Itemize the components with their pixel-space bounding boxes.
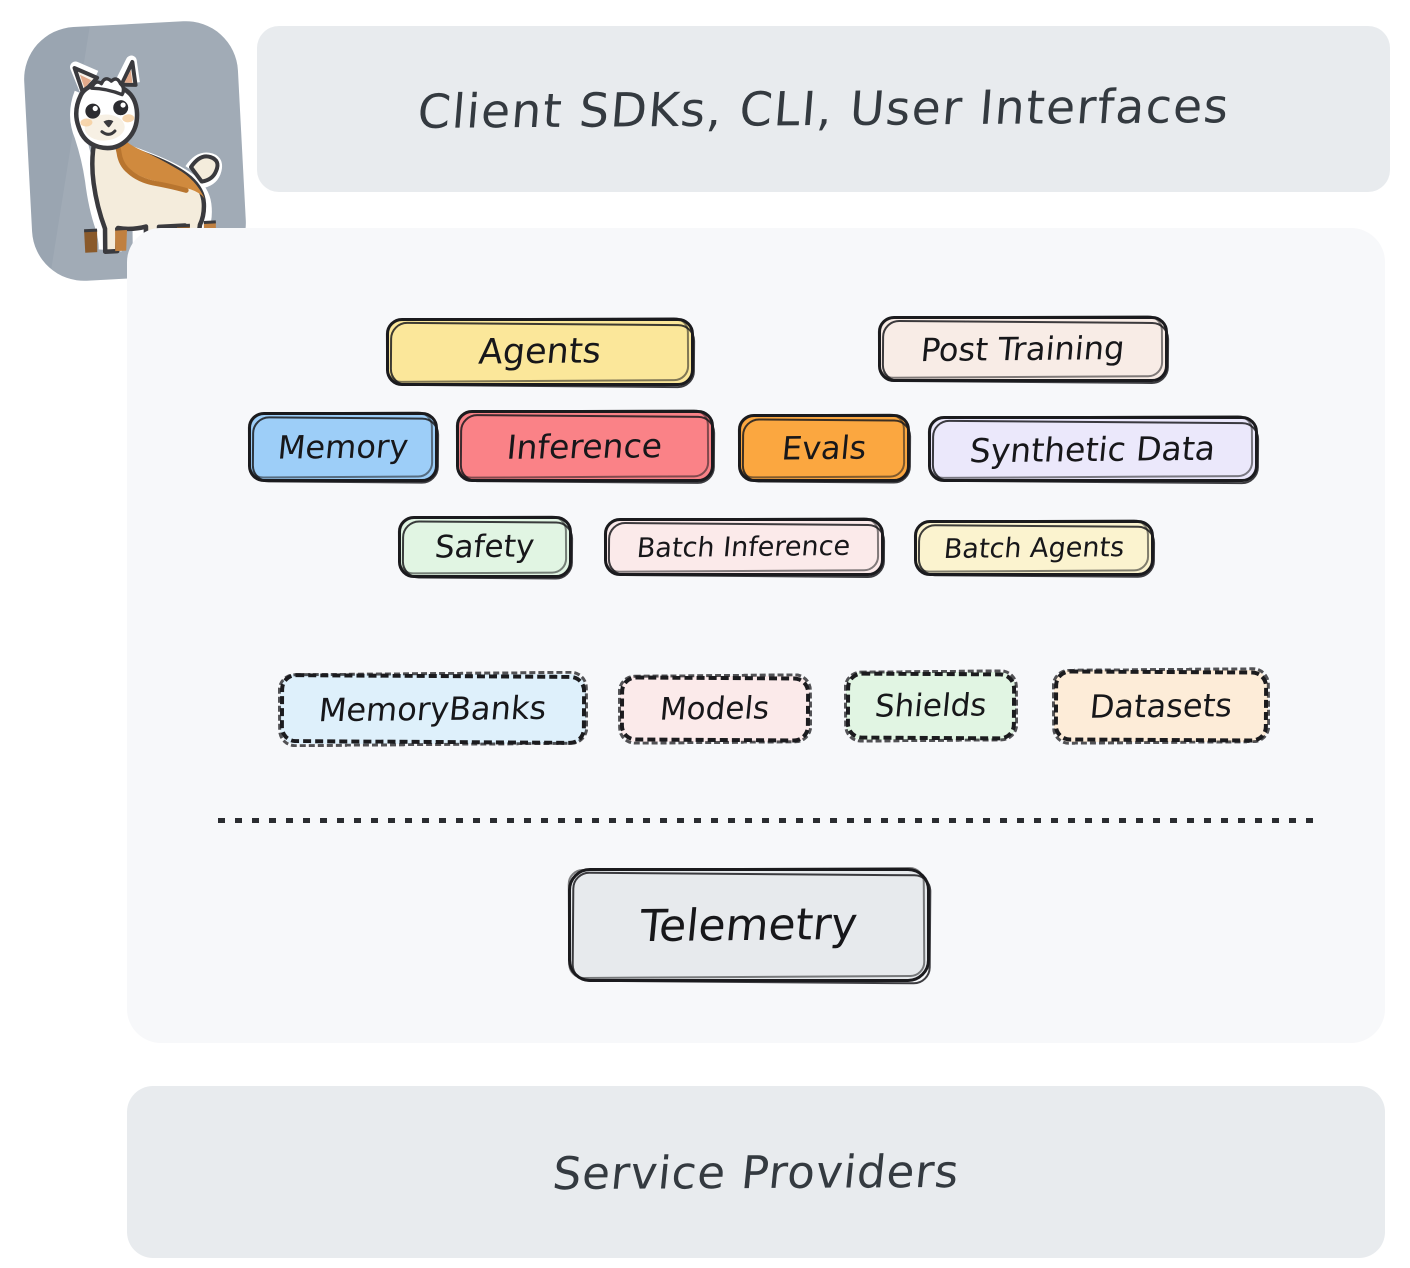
- dotted-separator: [218, 818, 1313, 823]
- header-bar: Client SDKs, CLI, User Interfaces: [257, 26, 1390, 192]
- api-box-label: Post Training: [919, 329, 1126, 369]
- api-box-label: Agents: [477, 331, 603, 372]
- service-providers-title: Service Providers: [550, 1144, 962, 1199]
- api-box-evals[interactable]: Evals: [738, 414, 910, 482]
- resource-box-models[interactable]: Models: [620, 676, 810, 742]
- header-title: Client SDKs, CLI, User Interfaces: [415, 79, 1231, 140]
- api-box-label: Safety: [434, 528, 537, 565]
- resource-box-memorybanks[interactable]: MemoryBanks: [280, 674, 586, 744]
- resource-box-datasets[interactable]: Datasets: [1054, 670, 1268, 742]
- api-box-label: Batch Agents: [942, 532, 1125, 565]
- api-box-label: Memory: [276, 427, 410, 466]
- api-box-label: Inference: [506, 426, 665, 467]
- architecture-diagram: Client SDKs, CLI, User Interfaces: [0, 0, 1410, 1268]
- resource-box-label: Datasets: [1088, 686, 1234, 725]
- api-box-label: Evals: [780, 429, 868, 468]
- telemetry-box[interactable]: Telemetry: [568, 868, 930, 982]
- service-providers-bar: Service Providers: [127, 1086, 1385, 1258]
- telemetry-label: Telemetry: [638, 898, 860, 951]
- api-box-batch-agents[interactable]: Batch Agents: [914, 520, 1154, 576]
- resource-box-label: Shields: [874, 687, 989, 724]
- resource-box-shields[interactable]: Shields: [846, 672, 1016, 740]
- api-box-safety[interactable]: Safety: [398, 516, 572, 578]
- api-box-synthetic-data[interactable]: Synthetic Data: [928, 416, 1258, 482]
- api-box-agents[interactable]: Agents: [386, 318, 694, 386]
- api-box-inference[interactable]: Inference: [456, 410, 714, 482]
- api-box-batch-inference[interactable]: Batch Inference: [604, 518, 884, 576]
- api-box-label: Batch Inference: [636, 530, 852, 563]
- resource-box-label: MemoryBanks: [317, 689, 548, 729]
- resource-box-label: Models: [659, 690, 772, 727]
- api-box-memory[interactable]: Memory: [248, 412, 438, 482]
- api-box-label: Synthetic Data: [968, 428, 1217, 470]
- api-box-post-training[interactable]: Post Training: [878, 316, 1168, 382]
